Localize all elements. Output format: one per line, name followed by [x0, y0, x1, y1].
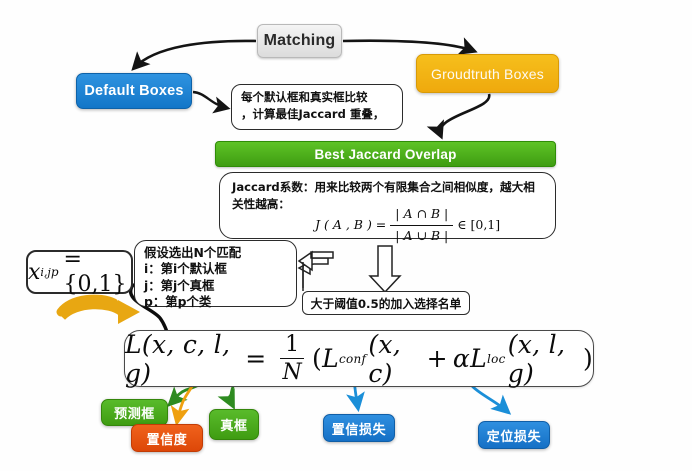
block-arrow-hook-left-head — [299, 252, 333, 270]
loss-frac-denominator: N — [277, 359, 307, 385]
yellow-curved-arrow — [61, 304, 122, 316]
diagram-canvas: Matching Default Boxes Groudtruth Boxes … — [0, 0, 692, 471]
loss-frac-numerator: 1 — [280, 332, 304, 359]
loss-close-paren: ) — [583, 344, 593, 373]
loss-lhs: L(x, c, l, g) — [125, 330, 239, 388]
formula-xij: xi,jp = {0,1} — [28, 252, 131, 292]
note-jaccard-label: Jaccard系数 — [232, 180, 303, 194]
chip-predicted-box[interactable]: 预测框 — [101, 399, 168, 426]
node-best-jaccard-overlap[interactable]: Best Jaccard Overlap — [215, 141, 556, 167]
jaccard-range: ∈ [0,1] — [457, 216, 500, 235]
wire-default-to-compare — [193, 92, 227, 108]
formula-xij-box: xi,jp = {0,1} — [26, 250, 133, 294]
chip-true-box[interactable]: 真框 — [209, 409, 259, 440]
jaccard-denominator: | A ∪ B | — [390, 226, 453, 246]
node-groundtruth-boxes[interactable]: Groudtruth Boxes — [416, 54, 559, 93]
xij-sub: i,j — [40, 266, 50, 279]
loss-alpha: α — [453, 344, 470, 373]
xij-sup: p — [51, 265, 59, 279]
node-default-boxes[interactable]: Default Boxes — [76, 73, 192, 109]
note-assume-line3: j：第j个真框 — [144, 278, 290, 294]
block-arrow-hook-left — [299, 258, 328, 288]
jaccard-fraction: | A ∩ B | | A ∪ B | — [390, 205, 453, 246]
formula-loss-box: L(x, c, l, g) = 1 N (Lconf (x, c) +αLloc… — [124, 330, 594, 387]
loss-term1-sub: conf — [339, 352, 366, 366]
loss-term2-args: (x, l, g) — [508, 330, 583, 388]
formula-loss: L(x, c, l, g) = 1 N (Lconf (x, c) +αLloc… — [125, 331, 593, 386]
note-compare-line1: 每个默认框和真实框比较 — [241, 89, 395, 106]
jaccard-formula: J ( A , B ) = | A ∩ B | | A ∪ B | ∈ [0,1… — [315, 205, 500, 246]
xij-base: x — [28, 260, 40, 285]
yellow-curved-arrow-tail — [61, 299, 114, 312]
wire-groundtruth-to-bjo — [440, 94, 489, 136]
wire-matching-to-groundtruth — [343, 41, 474, 51]
note-jaccard: Jaccard系数：用来比较两个有限集合之间相似度，越大相关性越高： J ( A… — [219, 172, 556, 239]
note-assume-line4: p：第p个类 — [144, 294, 290, 310]
chip-confidence-loss[interactable]: 置信损失 — [323, 414, 395, 442]
jaccard-numerator: | A ∩ B | — [390, 205, 453, 226]
wire-matching-to-default — [134, 41, 256, 68]
note-assume-line2: i：第i个默认框 — [144, 261, 290, 277]
loss-equals: = — [245, 344, 266, 373]
loss-term2-sub: loc — [487, 352, 506, 366]
note-assumptions: 假设选出N个匹配 i：第i个默认框 j：第j个真框 p：第p个类 — [134, 240, 297, 307]
note-assume-line1: 假设选出N个匹配 — [144, 245, 290, 261]
loss-term1-base: L — [322, 344, 339, 373]
loss-open-paren: ( — [312, 344, 322, 373]
note-compare-line2: ，计算最佳Jaccard 重叠， — [241, 106, 395, 123]
note-compare: 每个默认框和真实框比较 ，计算最佳Jaccard 重叠， — [231, 84, 403, 130]
block-arrow-down — [370, 246, 400, 292]
xij-equals: = {0,1} — [64, 247, 131, 297]
loss-term1-args: (x, c) — [368, 330, 421, 388]
loss-term2-base: L — [470, 344, 487, 373]
loss-plus: + — [427, 344, 448, 373]
chip-confidence[interactable]: 置信度 — [131, 424, 203, 452]
loss-fraction: 1 N — [277, 332, 307, 385]
chip-localization-loss[interactable]: 定位损失 — [478, 421, 550, 449]
note-threshold: 大于阈值0.5的加入选择名单 — [302, 291, 470, 315]
jaccard-lhs: J ( A , B ) = — [315, 216, 386, 235]
node-matching[interactable]: Matching — [257, 24, 342, 58]
